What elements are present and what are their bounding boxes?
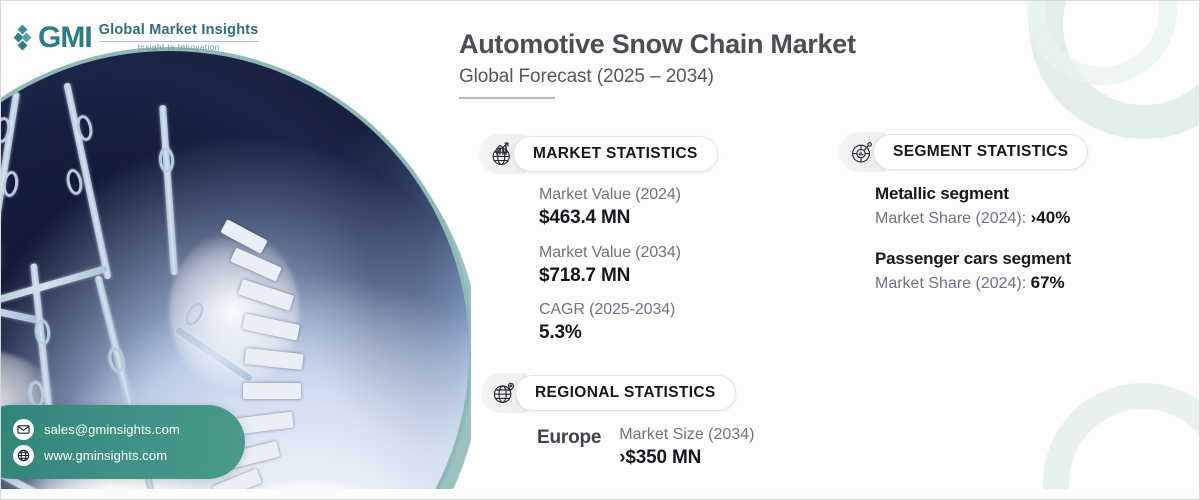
badge-market-statistics-label: MARKET STATISTICS [533,145,698,163]
gmi-divider [99,41,259,42]
gmi-logo[interactable]: GMI Global Market Insights Insight to In… [15,23,259,53]
segment-stat-item: Passenger cars segment Market Share (202… [875,248,1071,295]
chain-strand [159,105,178,275]
decorative-arc-top-right-inner [1027,0,1177,85]
hero-image-panel: sales@gminsights.com www.gminsights.com [1,1,471,500]
envelope-icon [13,419,34,440]
infographic-canvas: sales@gminsights.com www.gminsights.com … [0,0,1200,500]
snow-patch [1,211,4,301]
market-statistics-list: Market Value (2024) $463.4 MN Market Val… [539,185,681,358]
market-stat-value: $718.7 MN [539,264,681,289]
market-stat-label: CAGR (2025-2034) [539,300,681,320]
decorative-arc-bottom-right [1043,383,1200,500]
market-stat-label: Market Value (2024) [539,185,681,205]
market-stat-value: 5.3% [539,321,681,346]
page-title: Automotive Snow Chain Market [459,29,856,60]
chain-strand [1,265,107,308]
contact-website-text: www.gminsights.com [44,448,167,463]
gmi-wordmark: Global Market Insights Insight to Innova… [99,23,259,53]
badge-segment-statistics: SEGMENT STATISTICS [839,132,1088,172]
badge-market-statistics-pill: MARKET STATISTICS [513,136,718,172]
badge-market-statistics: MARKET STATISTICS [479,134,718,174]
badge-regional-statistics: REGIONAL STATISTICS [481,373,736,413]
chain-link [34,318,52,345]
region-metric-label: Market Size (2034) [619,425,754,445]
segment-statistics-list: Metallic segment Market Share (2024): ›4… [875,183,1071,313]
market-stat-label: Market Value (2034) [539,243,681,263]
gmi-diamond-logo-icon [15,24,31,52]
badge-segment-statistics-label: SEGMENT STATISTICS [893,143,1068,161]
regional-statistics-block: Europe Market Size (2034) ›$350 MN [537,425,754,471]
contact-row-website[interactable]: www.gminsights.com [13,445,229,466]
gmi-monogram: GMI [38,23,92,53]
tyre-tread [236,412,294,435]
badge-regional-statistics-pill: REGIONAL STATISTICS [515,375,736,411]
market-stat-item: Market Value (2024) $463.4 MN [539,185,681,231]
market-stat-item: Market Value (2034) $718.7 MN [539,243,681,289]
segment-stat-value: 67% [1031,273,1065,292]
segment-stat-metric: Market Share (2024): [875,210,1031,227]
title-underline [459,97,555,99]
badge-segment-statistics-pill: SEGMENT STATISTICS [873,134,1088,170]
segment-stat-item: Metallic segment Market Share (2024): ›4… [875,183,1071,230]
market-stat-item: CAGR (2025-2034) 5.3% [539,300,681,346]
title-block: Automotive Snow Chain Market Global Fore… [459,29,856,99]
globe-icon [13,445,34,466]
segment-stat-line: Market Share (2024): ›40% [875,207,1071,230]
contact-pill: sales@gminsights.com www.gminsights.com [1,405,245,479]
segment-stat-title: Passenger cars segment [875,248,1071,270]
contact-row-email[interactable]: sales@gminsights.com [13,419,229,440]
segment-stat-value: ›40% [1031,208,1071,227]
market-stat-value: $463.4 MN [539,206,681,231]
gmi-tagline: Insight to Innovation [99,44,259,52]
tyre-tread [243,383,301,399]
region-figure: Market Size (2034) ›$350 MN [619,425,754,471]
segment-stat-title: Metallic segment [875,183,1071,205]
bottom-strip [1,489,1199,499]
badge-regional-statistics-label: REGIONAL STATISTICS [535,384,716,402]
decorative-arc-top-right [1029,0,1200,139]
contact-email-text: sales@gminsights.com [44,422,180,437]
region-name: Europe [537,425,601,451]
gmi-company-name: Global Market Insights [99,23,259,38]
region-metric-value: ›$350 MN [619,446,754,471]
segment-stat-line: Market Share (2024): 67% [875,272,1071,295]
page-subtitle: Global Forecast (2025 – 2034) [459,66,856,88]
chain-link [158,147,175,174]
segment-stat-metric: Market Share (2024): [875,275,1031,292]
